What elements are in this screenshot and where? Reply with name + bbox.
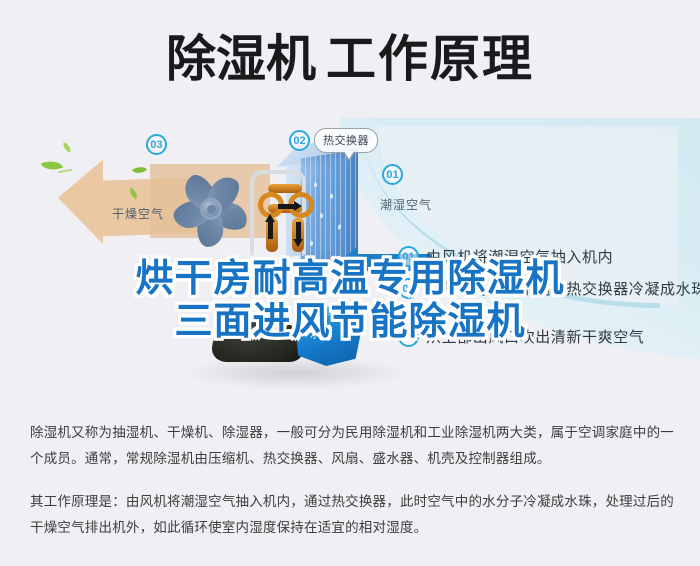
caption-text-03: 从上部出风口吹出清新干爽空气: [426, 326, 644, 347]
page-title-text: 除湿机工作原理: [166, 34, 534, 84]
page-title: 除湿机工作原理: [0, 0, 700, 118]
compressor-port: [266, 318, 288, 330]
caption-step-01: 01 由风机将潮湿空气抽入机内: [398, 246, 613, 267]
heat-exchanger-callout: 热交换器: [314, 128, 378, 153]
dry-air-label: 干燥空气: [112, 205, 164, 222]
badge-01: 01: [382, 164, 403, 185]
caption-text-02: 空气中的水分子通过热交换器冷凝成水珠: [426, 278, 700, 299]
compressor-unit: [212, 316, 304, 362]
caption-step-02: 02 空气中的水分子通过热交换器冷凝成水珠: [398, 278, 700, 299]
caption-badge-01: 01: [398, 246, 419, 267]
flow-arrow-up: [268, 222, 273, 239]
flow-arrow-down: [296, 222, 301, 239]
caption-badge-03: 03: [398, 326, 419, 347]
leaf-stem: [58, 169, 72, 173]
leaf-icon: [61, 142, 73, 152]
leaf-icon: [132, 163, 147, 177]
water-tank-label: 水箱: [310, 326, 332, 341]
ground-shadow: [180, 356, 410, 390]
caption-step-03: 03 从上部出风口吹出清新干爽空气: [398, 326, 644, 347]
fan-hub-center: [207, 205, 216, 214]
page-title-part-b: 工作原理: [326, 31, 534, 87]
fan-illustration: [168, 166, 254, 252]
page-root: 除湿机工作原理 干燥空气: [0, 0, 700, 566]
page-title-part-a: 除湿机: [166, 31, 316, 87]
fan-hub: [200, 198, 222, 220]
description-paragraph-2: 其工作原理是：由风机将潮湿空气抽入机内，通过热交换器，此时空气中的水分子冷凝成水…: [30, 489, 674, 542]
badge-03: 03: [146, 134, 167, 155]
badge-02: 02: [289, 130, 310, 151]
description-paragraph-1: 除湿机又称为抽湿机、干燥机、除湿器，一般可分为民用除湿机和工业除湿机两大类，属于…: [30, 420, 674, 473]
humid-air-label: 潮湿空气: [380, 196, 432, 213]
caption-badge-02: 02: [398, 278, 419, 299]
description-block: 除湿机又称为抽湿机、干燥机、除湿器，一般可分为民用除湿机和工业除湿机两大类，属于…: [30, 420, 674, 541]
dehumidifier-diagram: 干燥空气: [0, 118, 700, 400]
caption-text-01: 由风机将潮湿空气抽入机内: [426, 246, 613, 267]
flow-arrow-right: [278, 204, 295, 209]
